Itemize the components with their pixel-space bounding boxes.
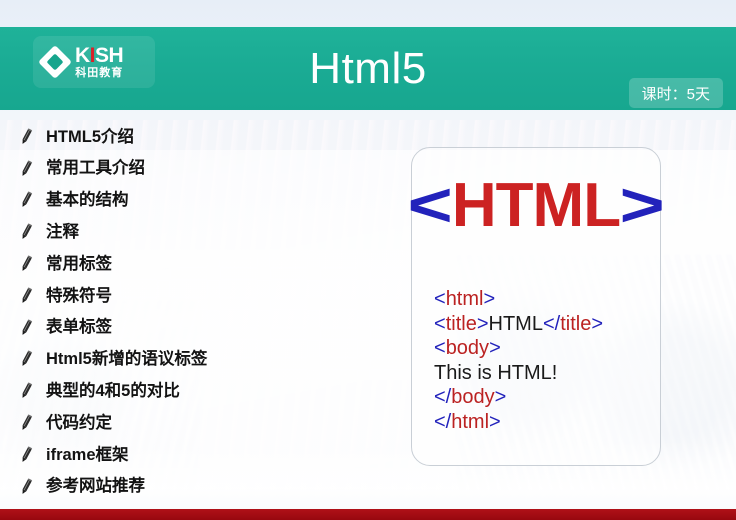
- outline-item[interactable]: 参考网站推荐: [18, 471, 368, 503]
- outline-item[interactable]: 典型的4和5的对比: [18, 375, 368, 407]
- code-line: </body>: [434, 385, 674, 410]
- code-line: <html>: [434, 287, 674, 312]
- code-token: </: [434, 386, 451, 408]
- code-token: >: [489, 411, 501, 433]
- code-line: <body>: [434, 336, 674, 361]
- code-token: >: [495, 386, 507, 408]
- status-badge: 课时：5天: [629, 78, 723, 108]
- pencil-icon: [18, 382, 34, 400]
- code-token: >: [483, 288, 495, 310]
- code-token: body: [446, 337, 489, 359]
- code-token: title: [560, 313, 591, 335]
- brand-chinese: 科田教育: [75, 68, 123, 79]
- outline-item[interactable]: Html5新增的语议标签: [18, 344, 368, 376]
- code-line: This is HTML!: [434, 361, 674, 386]
- slide-canvas: Html5 KISH 科田教育 课时：5天 HTML5介绍常用工具介绍基本的结构…: [0, 0, 736, 520]
- code-token: </: [543, 313, 560, 335]
- pencil-icon: [18, 255, 34, 273]
- code-token: >: [477, 313, 489, 335]
- brand-logo-text: KISH 科田教育: [75, 45, 123, 79]
- code-sample: <html><title>HTML</title><body>This is H…: [434, 287, 674, 434]
- brand-latin: KISH: [75, 45, 123, 66]
- outline-list: HTML5介绍常用工具介绍基本的结构注释常用标签特殊符号表单标签Html5新增的…: [18, 121, 368, 503]
- diamond-logo-icon: [42, 49, 68, 75]
- pencil-icon: [18, 319, 34, 337]
- code-token: >: [489, 337, 501, 359]
- angle-bracket-left-icon: <: [407, 175, 452, 237]
- html-word: HTML: [452, 175, 620, 237]
- footer-accent-bar: [0, 509, 736, 520]
- pencil-icon: [18, 478, 34, 496]
- outline-item[interactable]: 常用标签: [18, 248, 368, 280]
- outline-item-label: HTML5介绍: [46, 129, 134, 146]
- brand-latin-prefix: K: [75, 44, 90, 67]
- code-token: This is HTML!: [434, 362, 557, 384]
- outline-item-label: iframe框架: [46, 447, 129, 464]
- code-token: html: [446, 288, 484, 310]
- code-line: <title>HTML</title>: [434, 312, 674, 337]
- html-card-logo: < HTML >: [411, 168, 661, 243]
- pencil-icon: [18, 446, 34, 464]
- outline-item-label: 典型的4和5的对比: [46, 383, 180, 400]
- header-bar: Html5 KISH 科田教育 课时：5天: [0, 27, 736, 110]
- code-line: </html>: [434, 410, 674, 435]
- code-token: <: [434, 337, 446, 359]
- code-token: <: [434, 288, 446, 310]
- code-token: <: [434, 313, 446, 335]
- outline-item-label: 代码约定: [46, 415, 112, 432]
- outline-item[interactable]: 特殊符号: [18, 280, 368, 312]
- outline-item-label: 基本的结构: [46, 192, 129, 209]
- code-token: HTML: [489, 313, 543, 335]
- pencil-icon: [18, 223, 34, 241]
- pencil-icon: [18, 350, 34, 368]
- code-token: </: [434, 411, 451, 433]
- outline-item[interactable]: 常用工具介绍: [18, 153, 368, 185]
- outline-item[interactable]: 代码约定: [18, 407, 368, 439]
- pencil-icon: [18, 191, 34, 209]
- outline-item[interactable]: HTML5介绍: [18, 121, 368, 153]
- outline-item-label: 表单标签: [46, 319, 112, 336]
- brand-logo[interactable]: KISH 科田教育: [33, 36, 155, 88]
- pencil-icon: [18, 128, 34, 146]
- outline-item[interactable]: 注释: [18, 216, 368, 248]
- outline-item[interactable]: iframe框架: [18, 439, 368, 471]
- outline-item[interactable]: 基本的结构: [18, 185, 368, 217]
- code-token: >: [591, 313, 603, 335]
- outline-item-label: 参考网站推荐: [46, 478, 145, 495]
- angle-bracket-right-icon: >: [620, 175, 665, 237]
- pencil-icon: [18, 414, 34, 432]
- outline-item[interactable]: 表单标签: [18, 312, 368, 344]
- outline-item-label: 常用工具介绍: [46, 160, 145, 177]
- code-token: html: [451, 411, 489, 433]
- outline-item-label: Html5新增的语议标签: [46, 351, 207, 368]
- outline-item-label: 注释: [46, 224, 79, 241]
- outline-item-label: 特殊符号: [46, 288, 112, 305]
- code-token: title: [446, 313, 477, 335]
- pencil-icon: [18, 160, 34, 178]
- outline-item-label: 常用标签: [46, 256, 112, 273]
- pencil-icon: [18, 287, 34, 305]
- brand-latin-suffix: SH: [95, 44, 123, 67]
- code-token: body: [451, 386, 494, 408]
